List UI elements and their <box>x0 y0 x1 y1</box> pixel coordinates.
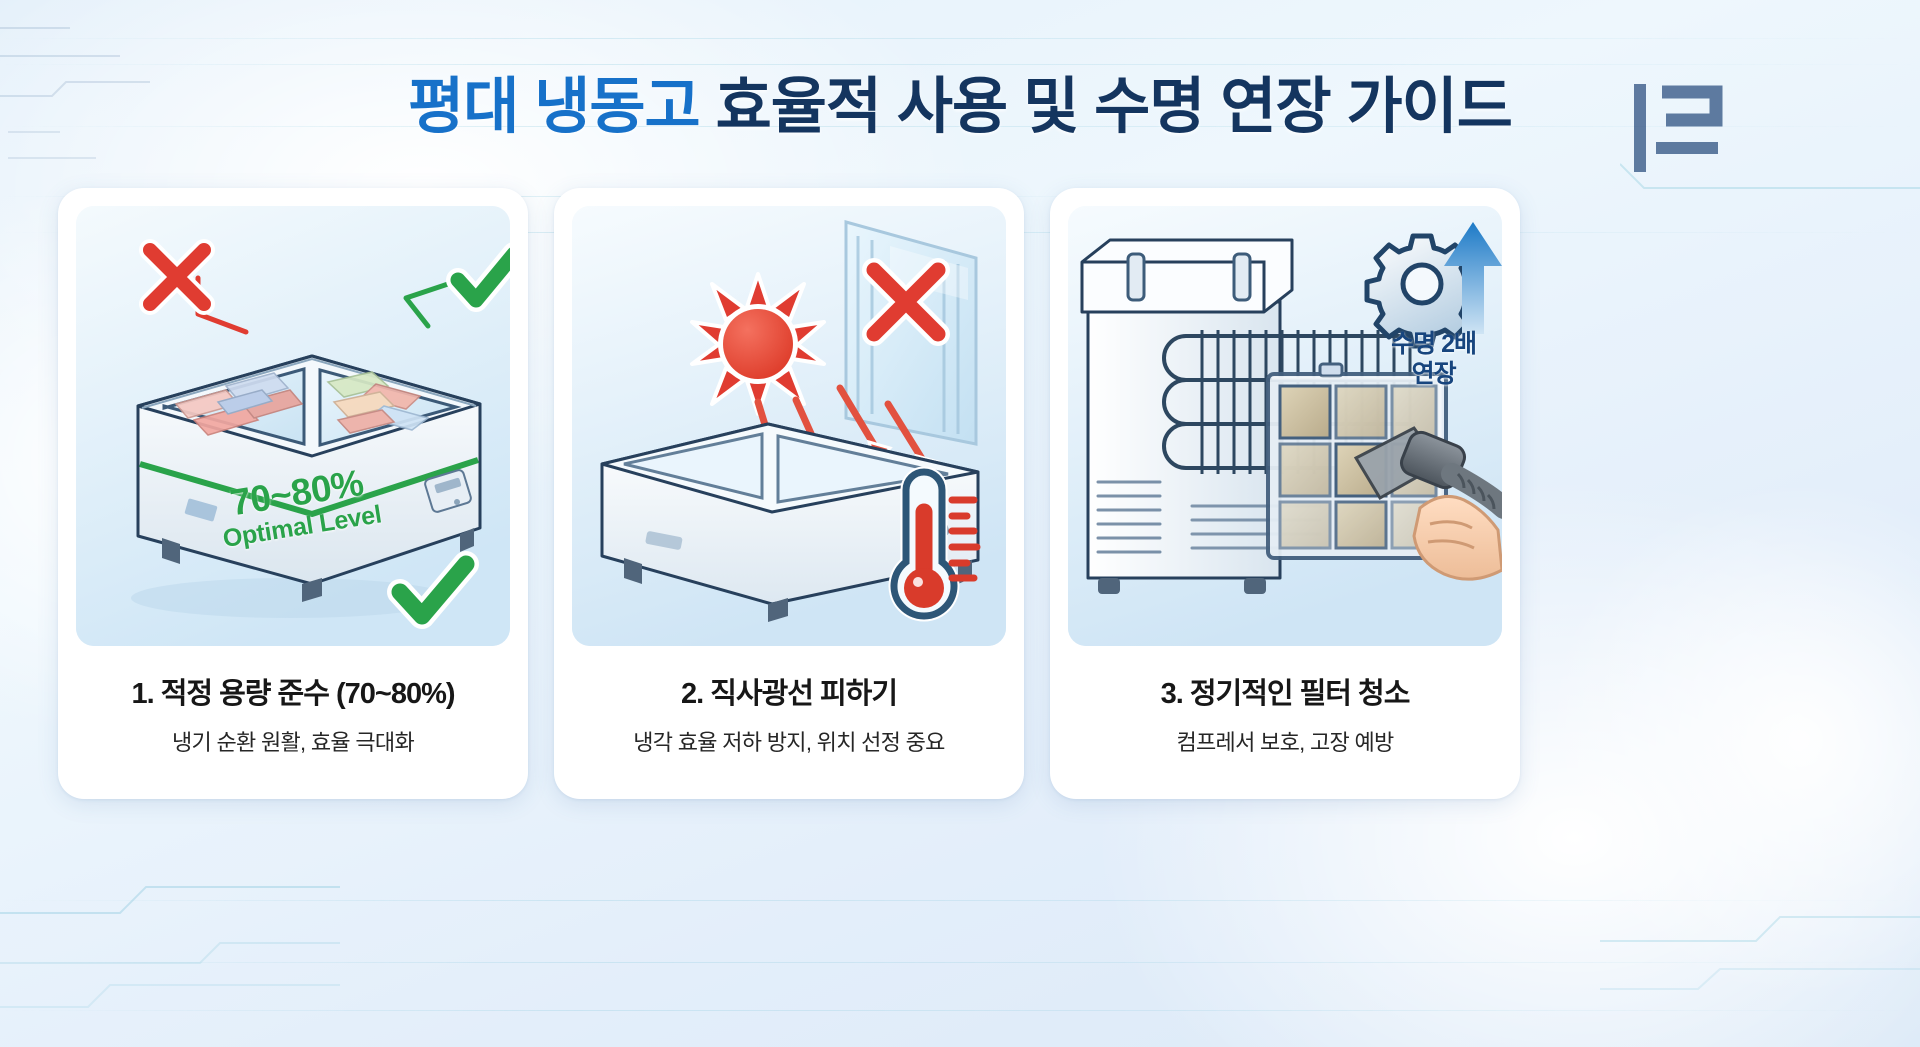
card-subtitle-capacity: 냉기 순환 원활, 효율 극대화 <box>76 725 510 757</box>
circuit-decoration-bottom-left <box>0 867 340 1047</box>
circuit-decoration-bottom-right <box>1600 877 1920 1047</box>
guide-card-list: 70~80% Optimal Level 1. 적정 용량 준수 (70~80%… <box>58 188 1520 799</box>
lifespan-badge: 수명 2배 연장 <box>1391 330 1476 389</box>
card-title-filter: 3. 정기적인 필터 청소 <box>1068 670 1502 712</box>
guide-card-capacity[interactable]: 70~80% Optimal Level 1. 적정 용량 준수 (70~80%… <box>58 188 528 799</box>
page-header: 평대 냉동고 효율적 사용 및 수명 연장 가이드 <box>0 56 1920 145</box>
card-subtitle-filter: 컴프레서 보호, 고장 예방 <box>1068 725 1502 757</box>
card-title-capacity: 1. 적정 용량 준수 (70~80%) <box>76 670 510 712</box>
card-title-sunlight: 2. 직사광선 피하기 <box>572 670 1006 712</box>
illustration-capacity: 70~80% Optimal Level <box>76 206 510 646</box>
sunlight-exposure-illustration <box>572 206 1006 646</box>
caption-capacity: 1. 적정 용량 준수 (70~80%) 냉기 순환 원활, 효율 극대화 <box>76 670 510 757</box>
filter-cleaning-illustration <box>1068 206 1502 646</box>
page-title-rest: 효율적 사용 및 수명 연장 가이드 <box>716 72 1512 140</box>
caption-sunlight: 2. 직사광선 피하기 냉각 효율 저하 방지, 위치 선정 중요 <box>572 670 1006 757</box>
page-title: 평대 냉동고 효율적 사용 및 수명 연장 가이드 <box>0 56 1920 145</box>
page-title-highlight: 평대 냉동고 <box>408 72 700 140</box>
lifespan-line2: 연장 <box>1391 360 1476 390</box>
chest-freezer-filled-illustration <box>76 206 510 646</box>
caption-filter: 3. 정기적인 필터 청소 컴프레서 보호, 고장 예방 <box>1068 670 1502 757</box>
lifespan-line1: 수명 2배 <box>1391 330 1476 360</box>
illustration-filter: 수명 2배 연장 <box>1068 206 1502 646</box>
guide-card-filter[interactable]: 수명 2배 연장 3. 정기적인 필터 청소 컴프레서 보호, 고장 예방 <box>1050 188 1520 799</box>
illustration-sunlight <box>572 206 1006 646</box>
guide-card-sunlight[interactable]: 2. 직사광선 피하기 냉각 효율 저하 방지, 위치 선정 중요 <box>554 188 1024 799</box>
card-subtitle-sunlight: 냉각 효율 저하 방지, 위치 선정 중요 <box>572 725 1006 757</box>
